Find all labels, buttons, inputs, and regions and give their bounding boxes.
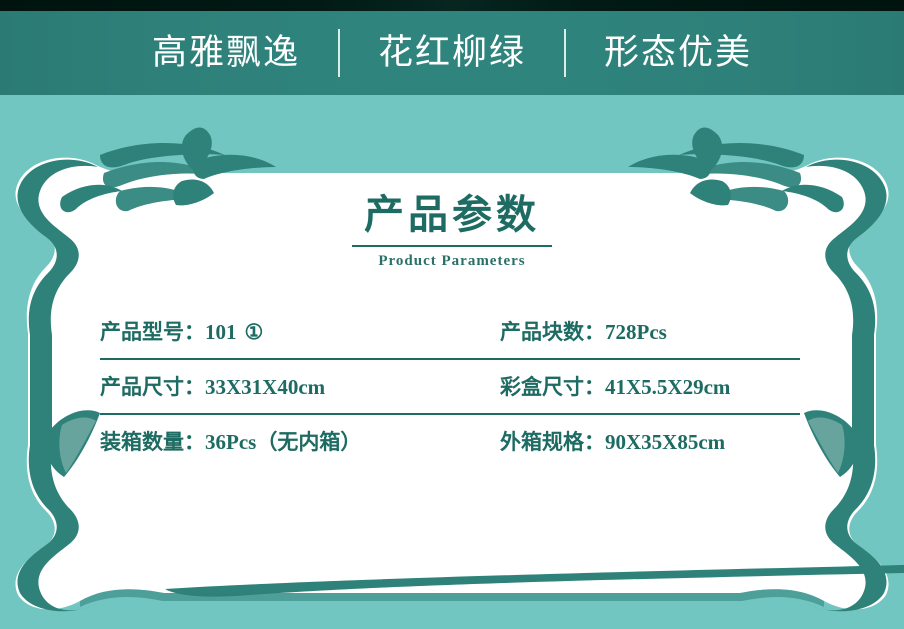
page-title: 产品参数: [0, 195, 904, 235]
spec-label: 彩盒尺寸：: [500, 375, 605, 399]
header-band: 高雅飘逸 花红柳绿 形态优美: [0, 11, 904, 95]
spec-label: 产品尺寸：: [100, 375, 205, 399]
panel-content: 产品参数 Product Parameters 产品型号：101① 产品块数：7…: [0, 95, 904, 629]
spec-cell-product-size: 产品尺寸：33X31X40cm: [100, 372, 500, 402]
spec-row: 装箱数量：36Pcs（无内箱） 外箱规格：90X35X85cm: [100, 427, 804, 482]
spec-value: 36Pcs（无内箱）: [205, 430, 361, 454]
header-slogan-1: 高雅飘逸: [114, 36, 338, 71]
header-slogan-2: 花红柳绿: [340, 36, 564, 71]
spec-value: 101: [205, 320, 237, 344]
header-slogans: 高雅飘逸 花红柳绿 形态优美: [114, 29, 790, 77]
spec-label: 外箱规格：: [500, 430, 605, 454]
title-block: 产品参数 Product Parameters: [0, 195, 904, 270]
spec-row: 产品尺寸：33X31X40cm 彩盒尺寸：41X5.5X29cm: [100, 372, 804, 427]
spec-value: 728Pcs: [605, 320, 667, 344]
header-divider-2: [564, 29, 566, 77]
spec-label: 装箱数量：: [100, 430, 205, 454]
spec-row-divider: [100, 358, 800, 360]
spec-label: 产品块数：: [500, 320, 605, 344]
circled-one-icon: ①: [237, 320, 264, 344]
spec-value: 41X5.5X29cm: [605, 375, 730, 399]
product-parameters-banner: 高雅飘逸 花红柳绿 形态优美: [0, 0, 904, 629]
header-divider-1: [338, 29, 340, 77]
spec-row-divider: [100, 413, 800, 415]
spec-cell-piece-count: 产品块数：728Pcs: [500, 317, 804, 347]
spec-table: 产品型号：101① 产品块数：728Pcs 产品尺寸：33X31X40cm 彩盒…: [100, 317, 804, 482]
spec-value: 33X31X40cm: [205, 375, 325, 399]
page-subtitle: Product Parameters: [0, 253, 904, 270]
spec-value: 90X35X85cm: [605, 430, 725, 454]
header-slogan-3: 形态优美: [566, 36, 790, 71]
top-dark-strip: [0, 0, 904, 11]
title-underline: [352, 245, 552, 247]
spec-cell-outer-carton: 外箱规格：90X35X85cm: [500, 427, 804, 457]
spec-label: 产品型号：: [100, 320, 205, 344]
spec-row: 产品型号：101① 产品块数：728Pcs: [100, 317, 804, 372]
spec-cell-box-size: 彩盒尺寸：41X5.5X29cm: [500, 372, 804, 402]
spec-cell-carton-quantity: 装箱数量：36Pcs（无内箱）: [100, 427, 500, 457]
spec-cell-model: 产品型号：101①: [100, 317, 500, 347]
